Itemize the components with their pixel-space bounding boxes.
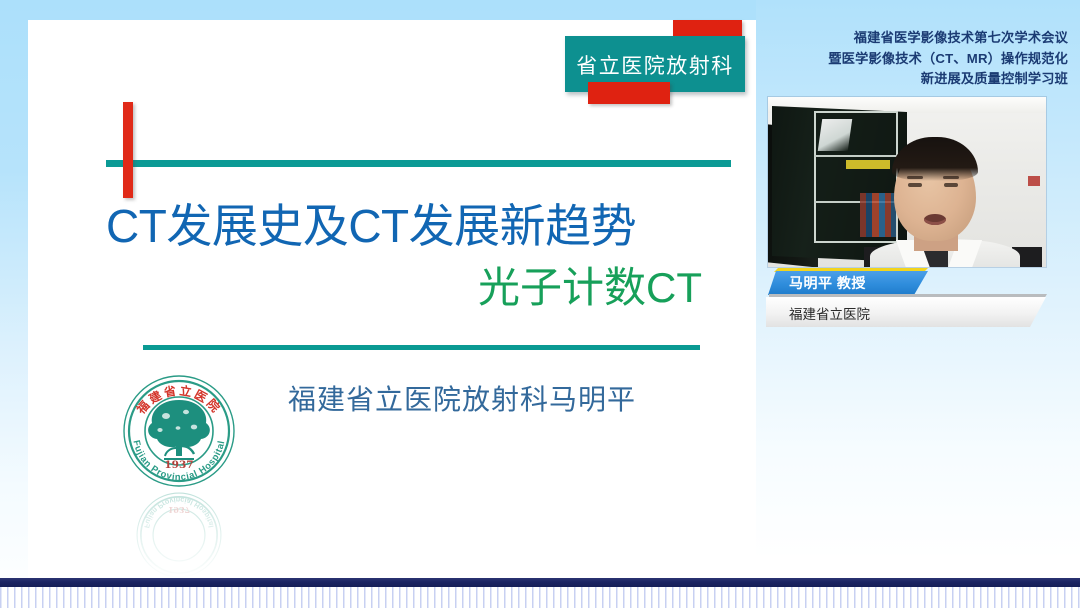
- video-eyebrow-left: [907, 176, 923, 179]
- conference-title-line-1: 福建省医学影像技术第七次学术会议: [756, 28, 1068, 49]
- video-eyebrow-right: [943, 176, 959, 179]
- conference-title-line-2: 暨医学影像技术（CT、MR）操作规范化: [756, 49, 1068, 70]
- bottom-stripe-band: [0, 587, 1080, 608]
- presentation-slide[interactable]: 省立医院放射科 CT发展史及CT发展新趋势 光子计数CT 福建省立医院放射科马明…: [28, 20, 756, 582]
- video-books: [860, 193, 896, 237]
- presenter-video-feed[interactable]: [768, 97, 1046, 267]
- hospital-logo-reflection: 1937 Fujian Provincial Hospital: [120, 490, 238, 580]
- video-glare: [818, 119, 852, 151]
- video-wall-marker: [1028, 176, 1040, 186]
- department-badge-label: 省立医院放射科: [565, 50, 745, 80]
- title-accent-bar: [123, 102, 133, 198]
- video-eye-left: [908, 183, 922, 187]
- slide-title: CT发展史及CT发展新趋势: [106, 198, 716, 254]
- slide-subtitle: 光子计数CT: [106, 262, 702, 314]
- logo-year: 1937: [164, 459, 193, 471]
- title-rule-bottom: [143, 345, 700, 350]
- bottom-navy-bar: [0, 578, 1080, 587]
- hospital-logo-icon: 1937 福建省立医院 Fujian Provincial Hospital: [120, 372, 238, 490]
- video-eye-right: [944, 183, 958, 187]
- title-rule-top: [106, 160, 731, 167]
- video-mouth: [924, 214, 946, 225]
- slide-author: 福建省立医院放射科马明平: [288, 378, 636, 418]
- svg-text:1937: 1937: [168, 505, 190, 515]
- presenter-organization: 福建省立医院: [789, 303, 870, 323]
- conference-title: 福建省医学影像技术第七次学术会议 暨医学影像技术（CT、MR）操作规范化 新进展…: [756, 28, 1080, 90]
- screen: 福建省医学影像技术第七次学术会议 暨医学影像技术（CT、MR）操作规范化 新进展…: [0, 0, 1080, 608]
- video-cabinet-label: [846, 160, 890, 169]
- presenter-name: 马明平 教授: [789, 273, 866, 293]
- video-cabinet-shelf: [814, 155, 898, 157]
- conference-title-line-3: 新进展及质量控制学习班: [756, 69, 1068, 90]
- badge-accent-bottom: [588, 82, 670, 104]
